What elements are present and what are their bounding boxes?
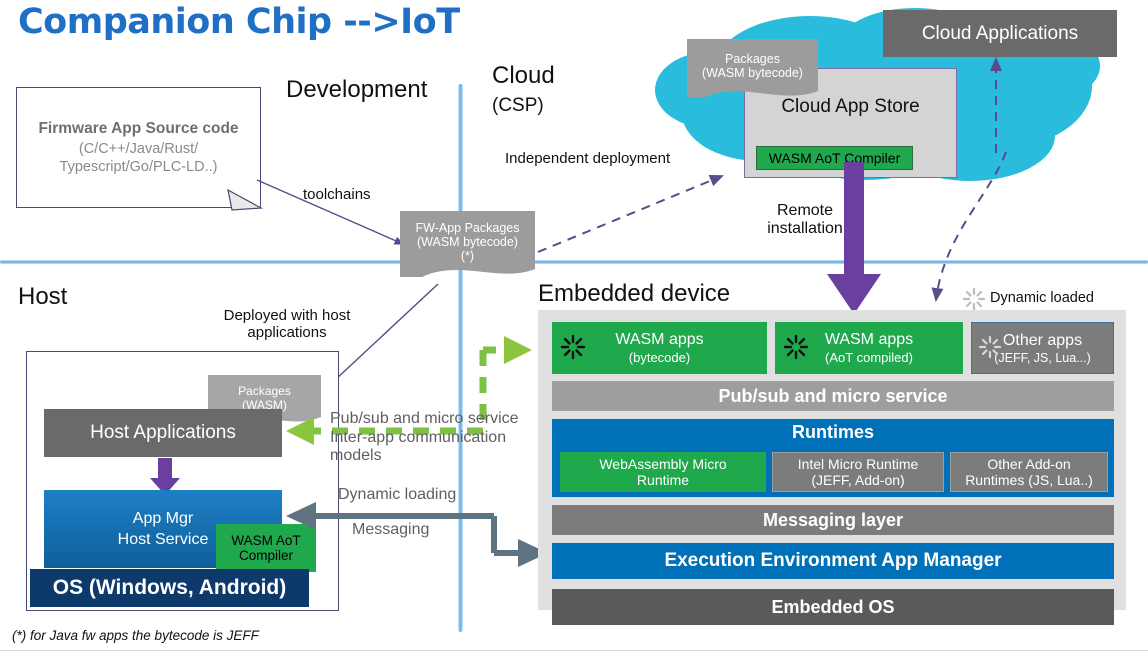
cloud-applications-box[interactable]: Cloud Applications <box>883 10 1117 57</box>
runtime-line2: Runtime <box>637 472 689 488</box>
dynamic-loading-label: Dynamic loading <box>338 486 456 504</box>
embedded-runtime-other[interactable]: Other Add-on Runtimes (JS, Lua..) <box>950 452 1108 492</box>
embedded-runtime-intel[interactable]: Intel Micro Runtime (JEFF, Add-on) <box>772 452 944 492</box>
independent-deployment-label: Independent deployment <box>505 150 670 167</box>
app-mgr-line1: App Mgr <box>133 510 193 528</box>
pubsub-line2: Inter-app communication models <box>330 429 560 465</box>
fw-app-packages-callout: FW-App Packages (WASM bytecode) (*) <box>400 211 535 283</box>
fw-callout-line3: (*) <box>461 249 474 263</box>
pubsub-line1: Pub/sub and micro service <box>330 410 560 428</box>
cloud-apps-up-arrow <box>986 55 1006 155</box>
runtime-line1: Intel Micro Runtime <box>798 456 919 472</box>
embedded-app-other[interactable]: Other apps (JEFF, JS, Lua...) <box>971 322 1114 374</box>
remote-installation-line2: installation <box>765 220 845 238</box>
pubsub-middle-label: Pub/sub and micro service Inter-app comm… <box>330 410 560 465</box>
spinner-icon <box>962 287 986 311</box>
app-name: WASM apps <box>825 331 913 349</box>
app-sub: (AoT compiled) <box>825 350 913 365</box>
embedded-app-manager[interactable]: Execution Environment App Manager <box>552 543 1114 579</box>
spinner-icon <box>978 335 1002 359</box>
messaging-label: Messaging <box>352 521 429 539</box>
app-name: Other apps <box>1003 332 1082 350</box>
firmware-source-line2: Typescript/Go/PLC-LD..) <box>60 159 218 175</box>
remote-installation-line1: Remote <box>765 202 845 220</box>
spinner-icon <box>783 334 809 360</box>
footnote: (*) for Java fw apps the bytecode is JEF… <box>12 628 259 643</box>
remote-installation-arrow <box>826 162 882 317</box>
section-header-development: Development <box>286 76 427 104</box>
app-sub: (JEFF, JS, Lua...) <box>994 351 1091 365</box>
firmware-source-title: Firmware App Source code <box>38 120 238 138</box>
app-sub: (bytecode) <box>629 350 690 365</box>
app-mgr-line2: Host Service <box>118 531 209 549</box>
host-os-box[interactable]: OS (Windows, Android) <box>30 569 309 607</box>
slide-canvas: Companion Chip -->IoT Development Cloud … <box>0 0 1148 653</box>
spinner-icon <box>560 334 586 360</box>
remote-installation-label: Remote installation <box>765 202 845 238</box>
dynamic-loaded-legend-label: Dynamic loaded <box>990 290 1094 306</box>
fw-callout-line2: (WASM bytecode) <box>417 235 518 249</box>
cloud-packages-callout: Packages (WASM bytecode) <box>687 39 818 102</box>
firmware-source-line1: (C/C++/Java/Rust/ <box>79 141 198 157</box>
runtime-line1: Other Add-on <box>987 456 1070 472</box>
embedded-app-wasm-bytecode[interactable]: WASM apps (bytecode) <box>552 322 767 374</box>
runtime-line1: WebAssembly Micro <box>599 456 726 472</box>
section-header-cloud: Cloud <box>492 62 555 90</box>
embedded-runtimes-title: Runtimes <box>552 419 1114 445</box>
embedded-messaging-layer[interactable]: Messaging layer <box>552 505 1114 535</box>
cloud-callout-line2: (WASM bytecode) <box>702 66 803 80</box>
embedded-app-wasm-aot[interactable]: WASM apps (AoT compiled) <box>775 322 963 374</box>
section-header-embedded: Embedded device <box>538 280 730 308</box>
section-header-cloud-sub: (CSP) <box>492 95 544 117</box>
page-title: Companion Chip -->IoT <box>18 2 460 42</box>
toolchains-label: toolchains <box>303 186 371 203</box>
embedded-runtime-wamr[interactable]: WebAssembly Micro Runtime <box>560 452 766 492</box>
cloud-callout-line1: Packages <box>725 52 780 66</box>
section-header-host: Host <box>18 283 67 311</box>
runtime-line2: (JEFF, Add-on) <box>811 472 904 488</box>
host-applications-box[interactable]: Host Applications <box>44 409 282 457</box>
firmware-source-box: Firmware App Source code (C/C++/Java/Rus… <box>16 87 261 208</box>
app-name: WASM apps <box>615 331 703 349</box>
embedded-os[interactable]: Embedded OS <box>552 589 1114 625</box>
fw-callout-line1: FW-App Packages <box>416 221 520 235</box>
runtime-line2: Runtimes (JS, Lua..) <box>965 472 1093 488</box>
embedded-pubsub-layer[interactable]: Pub/sub and micro service <box>552 381 1114 411</box>
independent-deployment-arrow <box>536 172 736 257</box>
bottom-rule <box>0 650 1148 651</box>
